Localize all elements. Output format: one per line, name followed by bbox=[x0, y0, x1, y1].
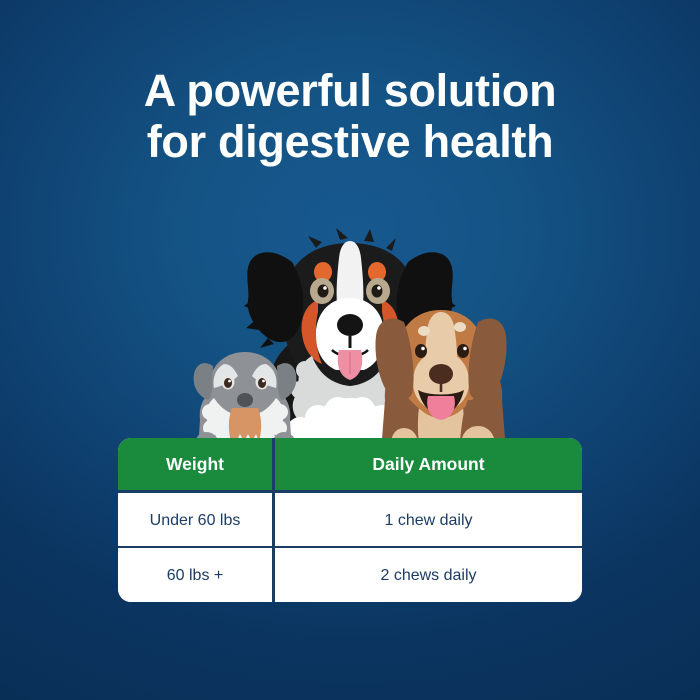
cell-weight-row-2: 60 lbs + bbox=[118, 546, 272, 602]
beagle-dog bbox=[375, 310, 506, 455]
dosage-table: Weight Daily Amount Under 60 lbs 1 chew … bbox=[118, 438, 582, 602]
headline-line-1: A powerful solution bbox=[0, 66, 700, 117]
table-row: Under 60 lbs 1 chew daily bbox=[118, 490, 582, 546]
table-header-weight: Weight bbox=[118, 438, 272, 490]
cell-amount-row-1: 1 chew daily bbox=[272, 490, 582, 546]
cell-amount-row-2: 2 chews daily bbox=[272, 546, 582, 602]
table-header-daily-amount: Daily Amount bbox=[272, 438, 582, 490]
cell-weight-row-1: Under 60 lbs bbox=[118, 490, 272, 546]
table-row: 60 lbs + 2 chews daily bbox=[118, 546, 582, 602]
headline-line-2: for digestive health bbox=[0, 117, 700, 168]
page-title: A powerful solution for digestive health bbox=[0, 66, 700, 168]
poster-canvas: A powerful solution for digestive health bbox=[0, 0, 700, 700]
table-header-row: Weight Daily Amount bbox=[118, 438, 582, 490]
schnauzer-dog bbox=[194, 352, 297, 452]
bernese-mountain-dog bbox=[244, 228, 456, 457]
